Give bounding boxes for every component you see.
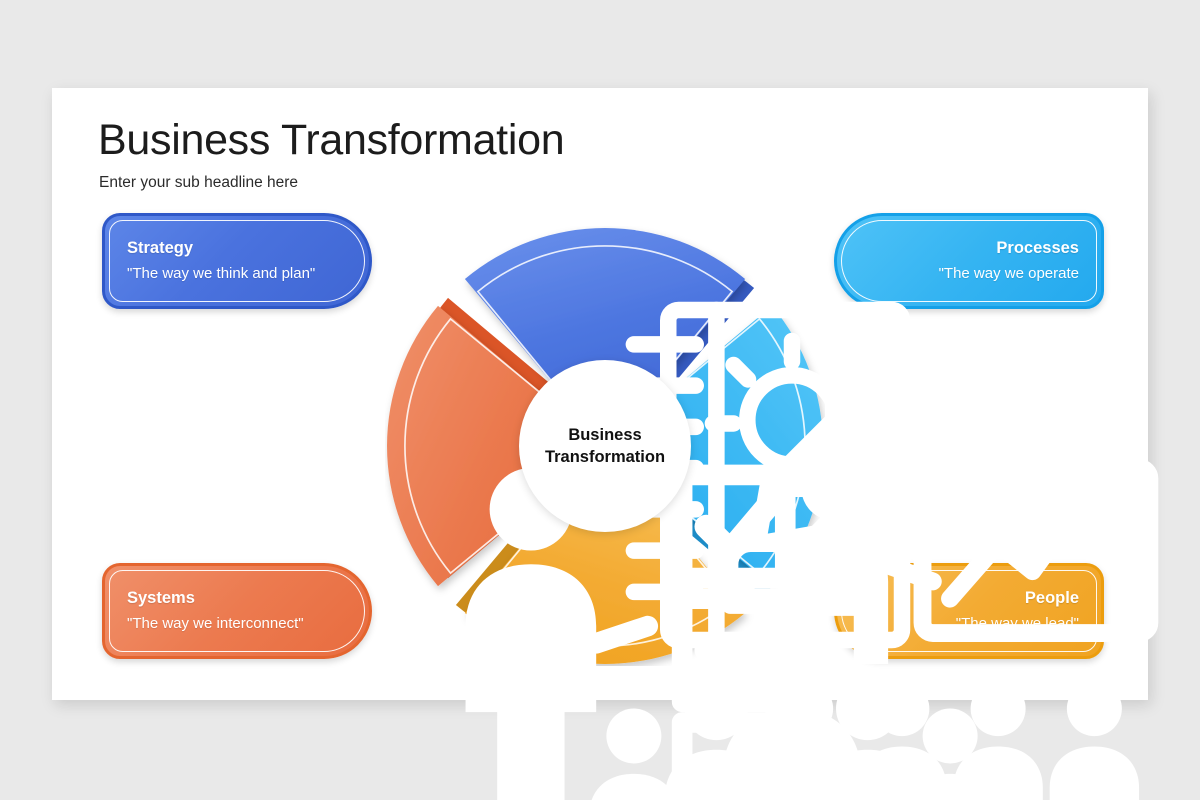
card-inner-outline [109, 220, 365, 302]
wheel-hub: Business Transformation [519, 360, 691, 532]
screenshot-stage: Business Transformation Enter your sub h… [0, 0, 1200, 800]
card-strategy-subtitle: "The way we think and plan" [127, 265, 315, 284]
notebook-lightbulb-pencil-icon [572, 255, 638, 321]
page-title: Business Transformation [98, 116, 564, 165]
card-systems-title: Systems [127, 588, 195, 609]
person-checklist-icon [414, 413, 480, 479]
card-strategy-title: Strategy [127, 238, 193, 259]
card-inner-outline [109, 570, 365, 652]
page-subtitle: Enter your sub headline here [99, 174, 298, 192]
transformation-wheel: Business Transformation [385, 226, 825, 666]
card-strategy[interactable]: Strategy "The way we think and plan" [102, 213, 372, 309]
card-systems-subtitle: "The way we interconnect" [127, 615, 304, 634]
hub-line-2: Transformation [545, 446, 665, 468]
card-systems[interactable]: Systems "The way we interconnect" [102, 563, 372, 659]
slide-canvas: Business Transformation Enter your sub h… [52, 88, 1148, 700]
hub-line-1: Business [568, 424, 641, 446]
